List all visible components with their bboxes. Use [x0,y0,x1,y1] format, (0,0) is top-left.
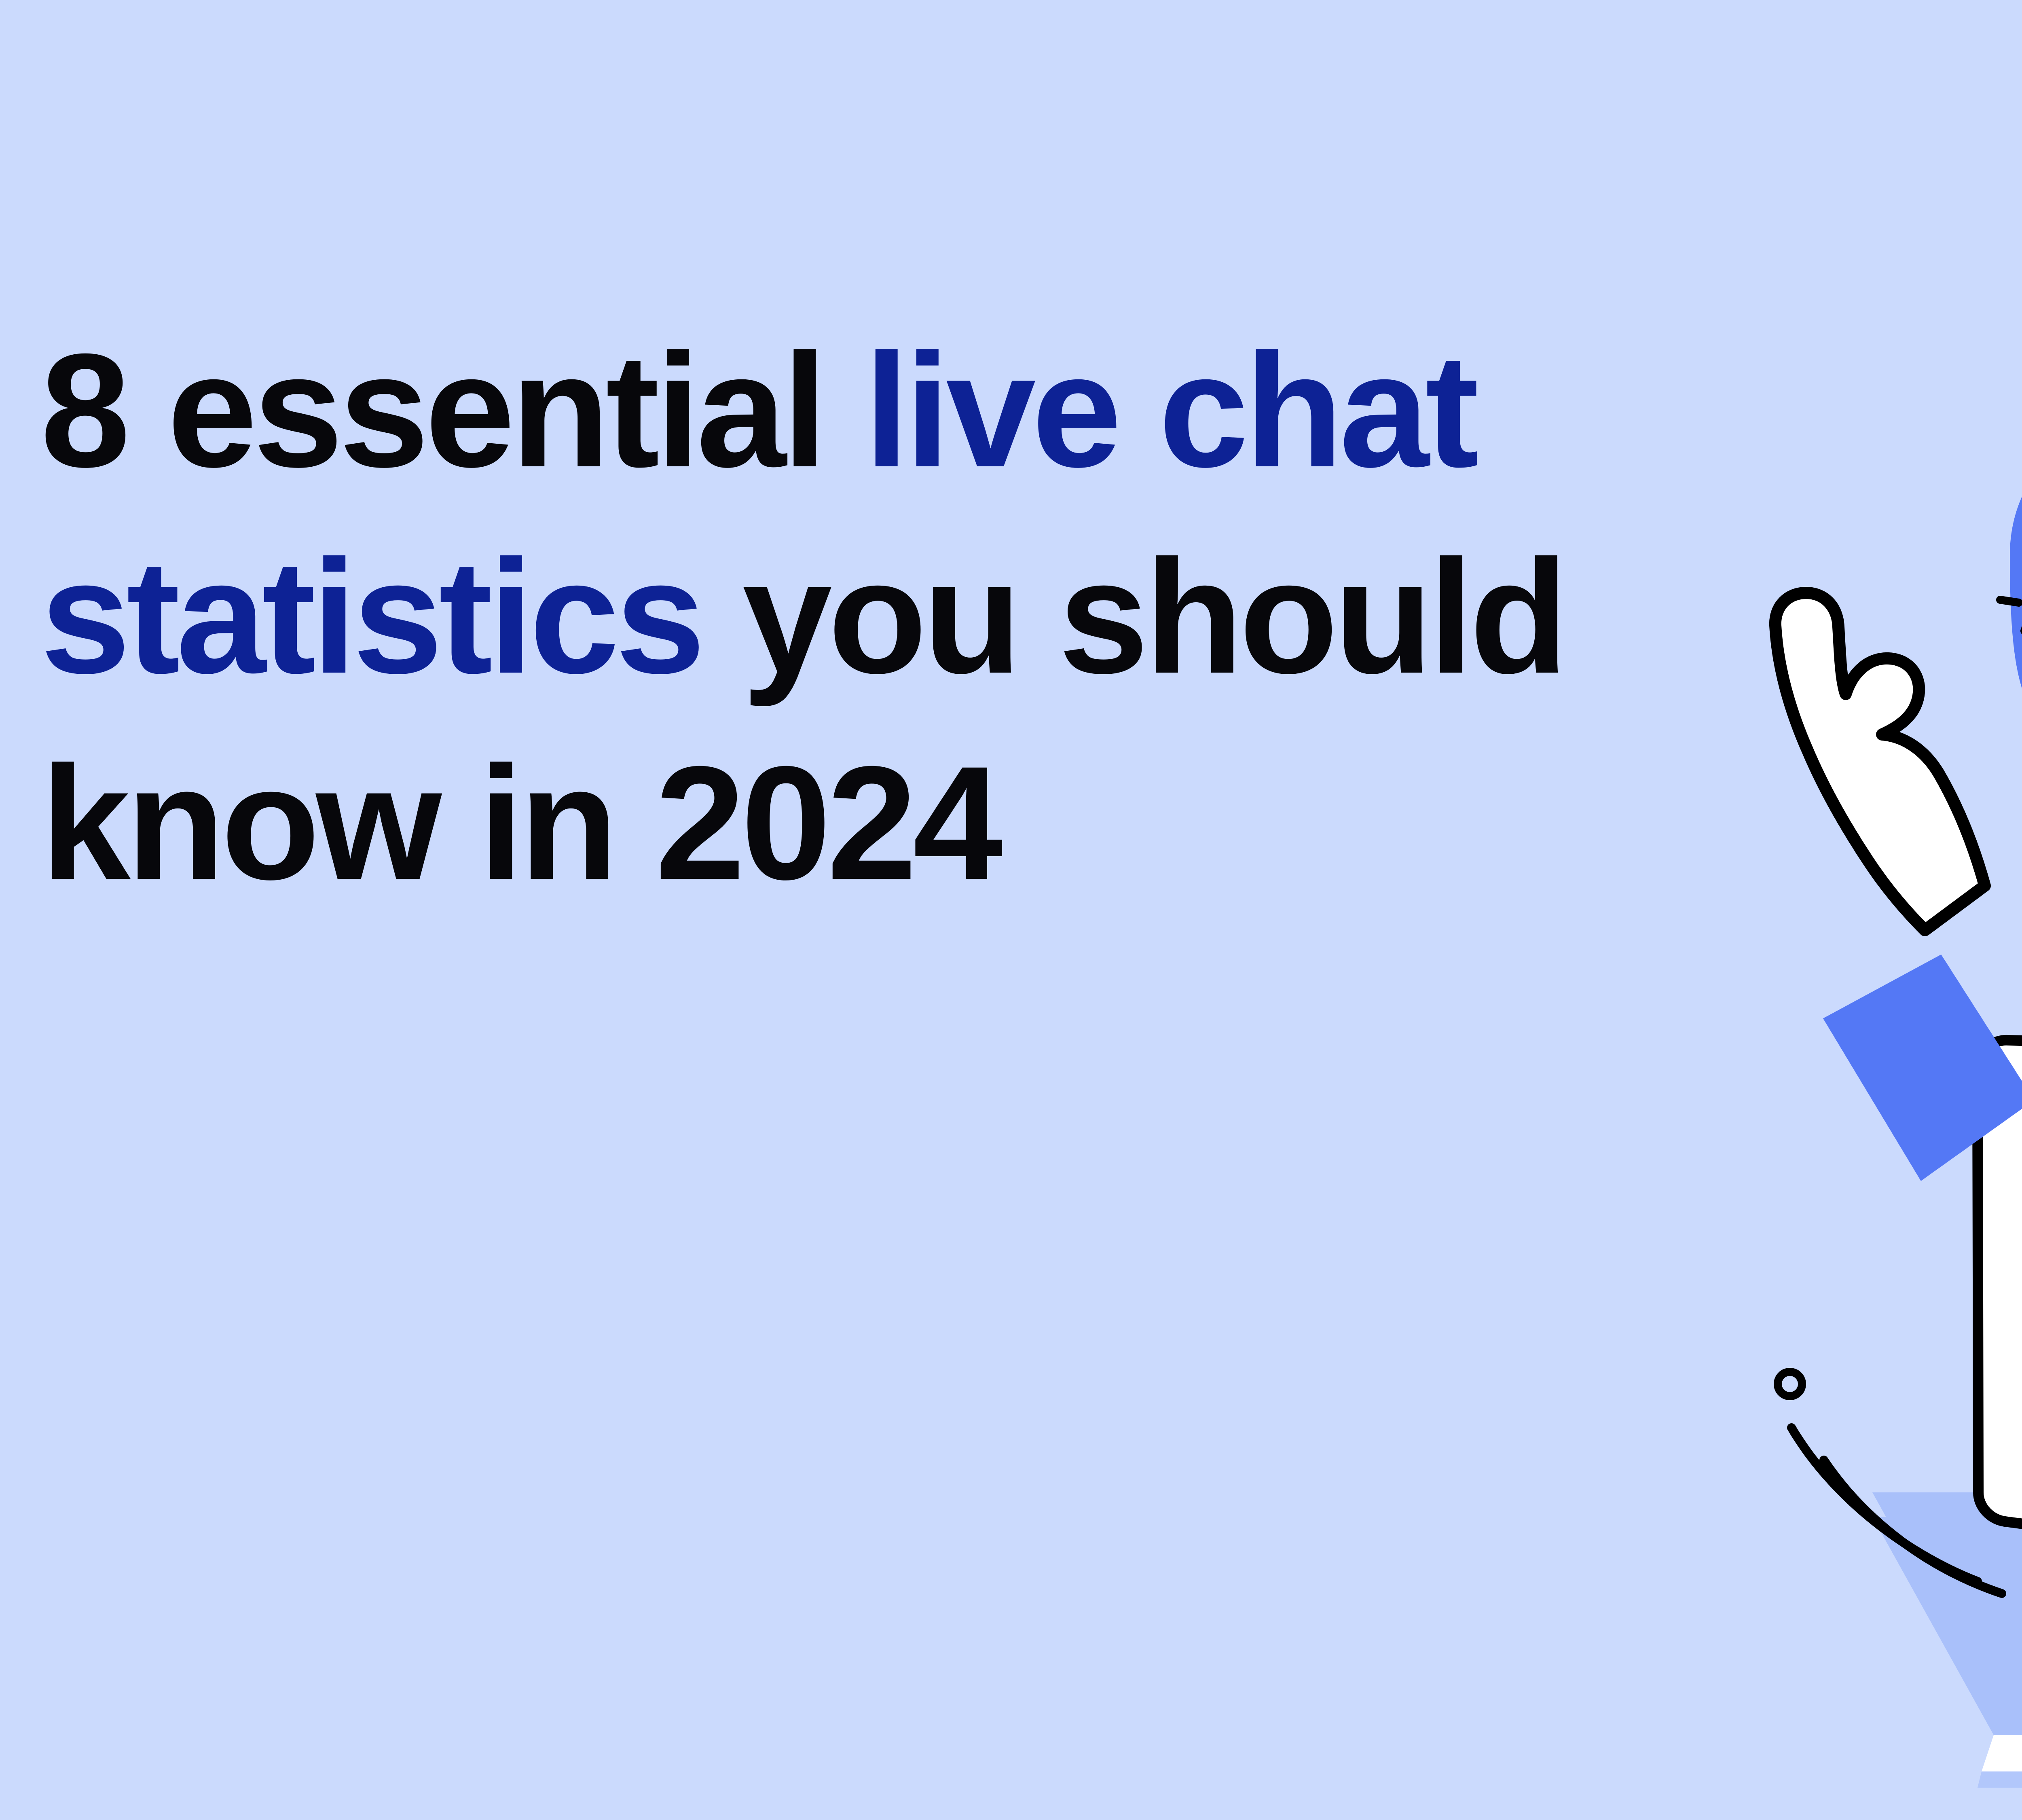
agent-raised-hand [1775,593,2022,1181]
headline-line-1-plain: 8 essential [40,320,864,501]
desk-edge [1982,1735,2022,1771]
headline-line-3: know in 2024 [40,720,1779,926]
support-agent-illustration: How may I help you? [1751,388,2022,1820]
desk-edge-shadow [1978,1771,2022,1788]
headline-line-2-accent: statistics [40,526,742,707]
headline-line-1-accent: live chat [864,320,1475,501]
speech-bubble: How may I help you? [2010,404,2022,870]
headline-line-2-plain: you should [742,526,1564,707]
small-circle-icon [1778,1372,1802,1396]
headline-line-1: 8 essential live chat [40,307,1779,514]
page-title: 8 essential live chat statistics you sho… [40,307,1779,926]
poster-canvas: 8 essential live chat statistics you sho… [0,0,2022,1820]
headline-line-2: statistics you should [40,514,1779,720]
